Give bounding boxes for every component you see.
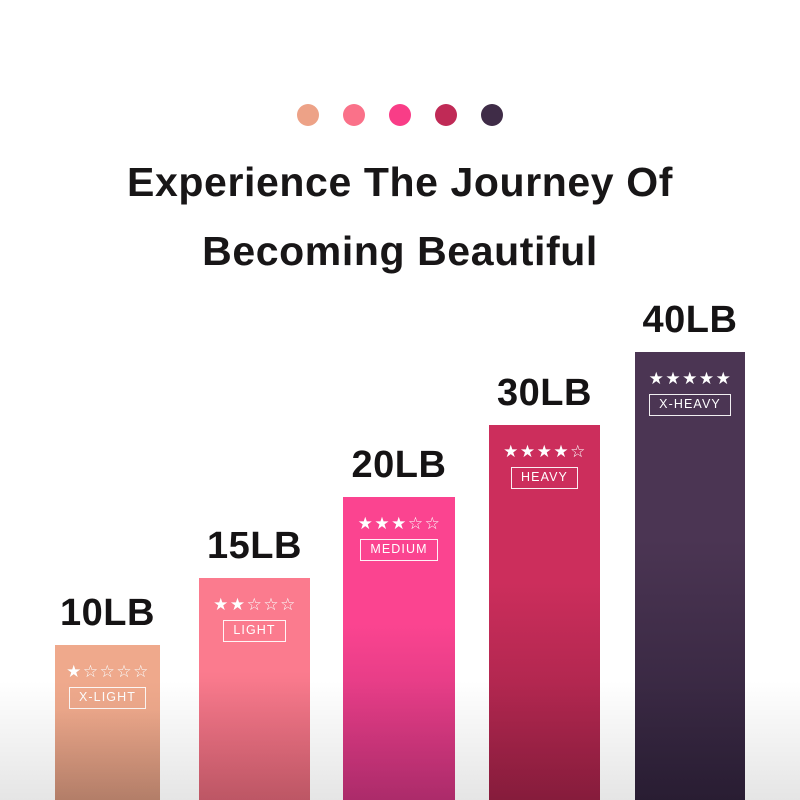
star-filled-icon: ★ [358, 515, 374, 532]
bar-15lb-star-rating: ★★☆☆☆ [213, 596, 296, 613]
star-filled-icon: ★ [553, 443, 569, 460]
bar-30lb[interactable]: 30LB★★★★☆HEAVY [489, 425, 600, 800]
star-empty-icon: ☆ [408, 515, 424, 532]
bar-15lb[interactable]: 15LB★★☆☆☆LIGHT [199, 578, 310, 800]
dot-x-heavy [481, 104, 503, 126]
bar-15lb-value-label: 15LB [207, 527, 302, 578]
page-title-line-2: Becoming Beautiful [0, 217, 800, 286]
page-title-line-1: Experience The Journey Of [0, 148, 800, 217]
color-swatch-dots [0, 104, 800, 126]
bar-10lb-rect[interactable]: ★☆☆☆☆X-LIGHT [55, 645, 160, 800]
star-empty-icon: ☆ [100, 663, 116, 680]
dot-medium [389, 104, 411, 126]
bar-10lb-label-block: ★☆☆☆☆X-LIGHT [55, 663, 160, 709]
bar-20lb-label-block: ★★★☆☆MEDIUM [343, 515, 455, 561]
star-empty-icon: ☆ [570, 443, 586, 460]
dot-x-light [297, 104, 319, 126]
star-filled-icon: ★ [520, 443, 536, 460]
star-empty-icon: ☆ [133, 663, 149, 680]
star-filled-icon: ★ [230, 596, 246, 613]
bar-15lb-label-block: ★★☆☆☆LIGHT [199, 596, 310, 642]
bar-30lb-rect[interactable]: ★★★★☆HEAVY [489, 425, 600, 800]
bar-15lb-tier-badge: LIGHT [223, 620, 285, 642]
bar-10lb[interactable]: 10LB★☆☆☆☆X-LIGHT [55, 645, 160, 800]
bar-10lb-tier-badge: X-LIGHT [69, 687, 146, 709]
star-filled-icon: ★ [665, 370, 681, 387]
bar-15lb-rect[interactable]: ★★☆☆☆LIGHT [199, 578, 310, 800]
bar-30lb-label-block: ★★★★☆HEAVY [489, 443, 600, 489]
star-empty-icon: ☆ [83, 663, 99, 680]
star-filled-icon: ★ [716, 370, 732, 387]
page-title: Experience The Journey Of Becoming Beaut… [0, 148, 800, 286]
bar-10lb-value-label: 10LB [60, 594, 155, 645]
bar-40lb-rect[interactable]: ★★★★★X-HEAVY [635, 352, 745, 800]
star-filled-icon: ★ [374, 515, 390, 532]
bar-20lb[interactable]: 20LB★★★☆☆MEDIUM [343, 497, 455, 800]
star-empty-icon: ☆ [425, 515, 441, 532]
dot-heavy [435, 104, 457, 126]
bar-10lb-star-rating: ★☆☆☆☆ [66, 663, 149, 680]
star-filled-icon: ★ [537, 443, 553, 460]
star-filled-icon: ★ [682, 370, 698, 387]
star-empty-icon: ☆ [247, 596, 263, 613]
star-filled-icon: ★ [649, 370, 665, 387]
bar-40lb[interactable]: 40LB★★★★★X-HEAVY [635, 352, 745, 800]
bar-20lb-rect[interactable]: ★★★☆☆MEDIUM [343, 497, 455, 800]
bar-40lb-tier-badge: X-HEAVY [649, 394, 731, 416]
star-filled-icon: ★ [213, 596, 229, 613]
bar-20lb-star-rating: ★★★☆☆ [358, 515, 441, 532]
star-filled-icon: ★ [699, 370, 715, 387]
bar-20lb-tier-badge: MEDIUM [360, 539, 437, 561]
bar-30lb-value-label: 30LB [497, 374, 592, 425]
bar-40lb-star-rating: ★★★★★ [649, 370, 732, 387]
star-filled-icon: ★ [503, 443, 519, 460]
resistance-band-bar-chart: Experience The Journey Of Becoming Beaut… [0, 0, 800, 800]
star-empty-icon: ☆ [280, 596, 296, 613]
bar-20lb-value-label: 20LB [352, 446, 447, 497]
bar-40lb-value-label: 40LB [643, 301, 738, 352]
bar-40lb-fill [635, 352, 745, 800]
star-filled-icon: ★ [391, 515, 407, 532]
star-empty-icon: ☆ [116, 663, 132, 680]
bar-40lb-label-block: ★★★★★X-HEAVY [635, 370, 745, 416]
star-empty-icon: ☆ [263, 596, 279, 613]
bar-30lb-tier-badge: HEAVY [511, 467, 578, 489]
dot-light [343, 104, 365, 126]
bar-30lb-star-rating: ★★★★☆ [503, 443, 586, 460]
star-filled-icon: ★ [66, 663, 82, 680]
